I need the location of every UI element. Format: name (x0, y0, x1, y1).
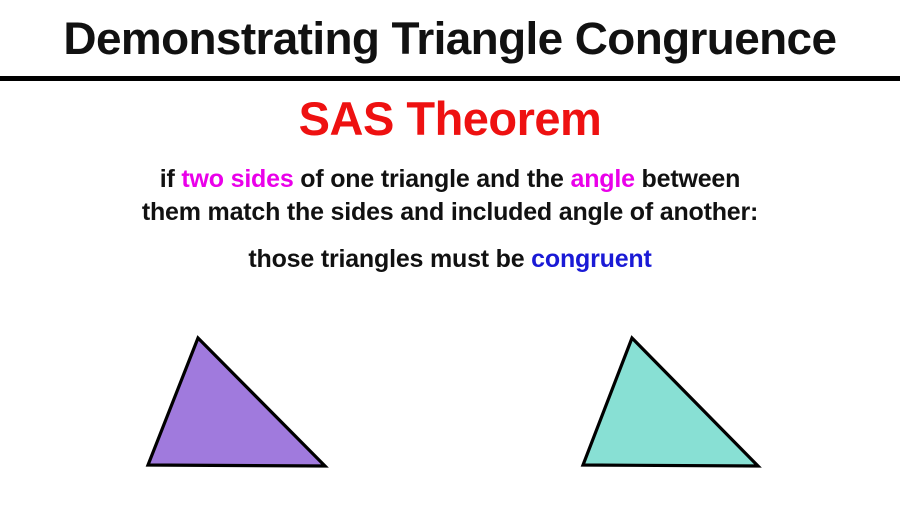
theorem-statement: if two sides of one triangle and the ang… (0, 163, 900, 276)
purple-triangle (148, 338, 325, 466)
statement-line-3-text-a: those triangles must be (248, 245, 531, 273)
statement-line-3-highlight-congruent: congruent (531, 245, 651, 273)
theorem-heading: SAS Theorem (0, 94, 900, 145)
page-title: Demonstrating Triangle Congruence (63, 16, 836, 61)
statement-line-1-highlight-two-sides: two sides (181, 165, 293, 193)
triangle-figures (0, 325, 900, 506)
slide-canvas: Demonstrating Triangle Congruence SAS Th… (0, 0, 900, 506)
statement-line-2: them match the sides and included angle … (0, 196, 900, 229)
statement-line-1-highlight-angle: angle (571, 165, 635, 193)
statement-line-1-text-b: of one triangle and the (294, 165, 571, 193)
statement-line-3: those triangles must be congruent (0, 243, 900, 276)
title-bar: Demonstrating Triangle Congruence (0, 0, 900, 76)
teal-triangle (583, 338, 758, 466)
triangles-svg (0, 325, 900, 506)
statement-line-1-text-c: between (635, 165, 740, 193)
statement-line-1-text-a: if (160, 165, 182, 193)
title-divider (0, 76, 900, 81)
statement-line-1: if two sides of one triangle and the ang… (0, 163, 900, 196)
statement-line-2-text: them match the sides and included angle … (142, 198, 758, 226)
